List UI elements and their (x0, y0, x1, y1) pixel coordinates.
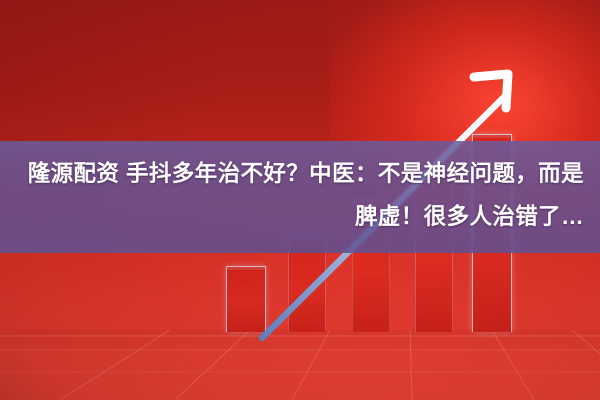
banner-image: 隆源配资 手抖多年治不好？中医：不是神经问题，而是脾虚！很多人治错了… (0, 0, 600, 400)
bar-1 (226, 266, 266, 332)
floor-grid (0, 330, 600, 400)
caption-text: 隆源配资 手抖多年治不好？中医：不是神经问题，而是脾虚！很多人治错了… (16, 152, 584, 238)
floor-grid-lines (0, 330, 600, 400)
